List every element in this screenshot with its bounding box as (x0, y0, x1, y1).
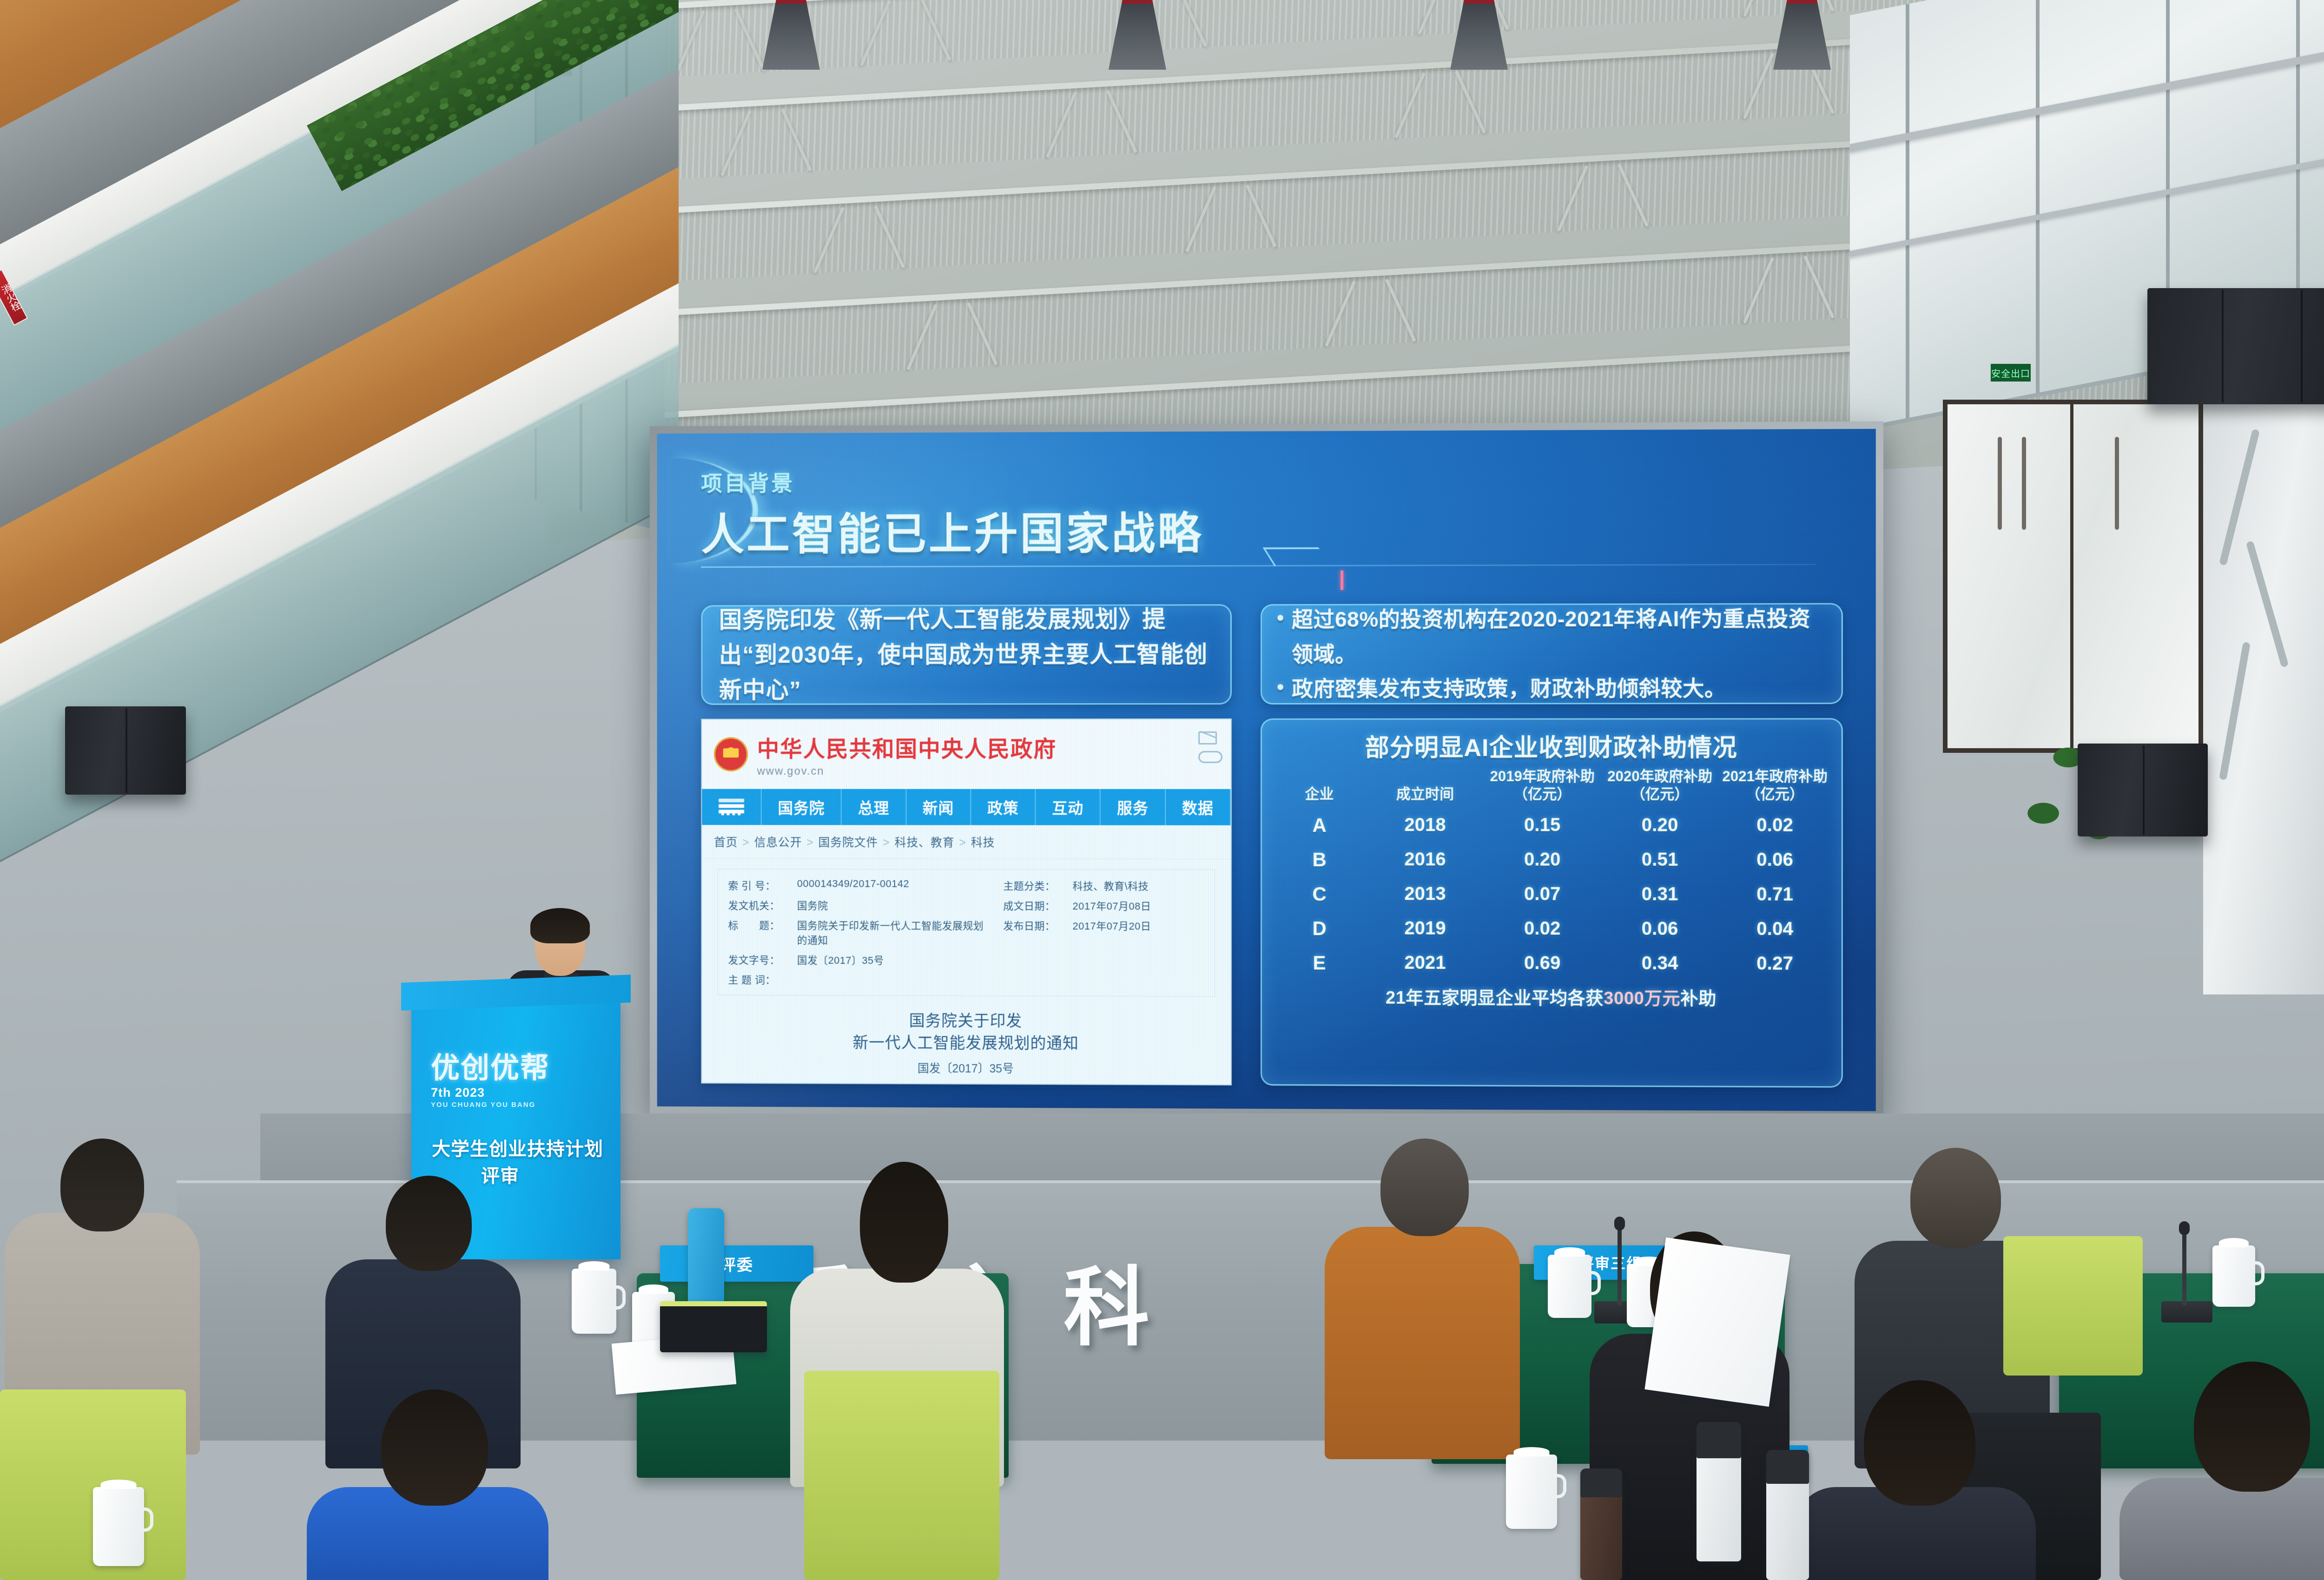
cell-firm: D (1272, 911, 1367, 946)
policy-quote-text: 国务院印发《新一代人工智能发展规划》提出“到2030年，使中国成为世界主要人工智… (702, 601, 1230, 708)
event-logo-year: 7th 2023 (431, 1086, 584, 1100)
cell-founded: 2019 (1367, 911, 1484, 946)
lidded-mug (572, 1269, 616, 1334)
audience-head (860, 1162, 948, 1283)
cell-2020: 0.51 (1601, 843, 1719, 877)
gov-header-icons (1198, 731, 1222, 763)
meta-value: 2017年07月20日 (1073, 918, 1151, 948)
meta-key: 成文日期： (1003, 898, 1072, 913)
cell-founded: 2016 (1367, 843, 1484, 877)
audience-body (2119, 1478, 2324, 1580)
screenshot-root: 消火栓 安全出口 (0, 0, 2324, 1580)
footnote-prefix: 21年五家明显企业平均各获 (1386, 988, 1604, 1008)
meta-row: 标 题：国务院关于印发新一代人工智能发展规划的通知 (728, 917, 991, 948)
right-curtain-wall: 安全出口 (1850, 0, 2324, 1162)
meta-value: 科技、教育\科技 (1073, 878, 1149, 893)
footnote-highlight: 3000万元 (1604, 989, 1680, 1009)
lidded-mug (1548, 1255, 1591, 1318)
gov-header: 中华人民共和国中央人民政府 www.gov.cn (702, 719, 1231, 789)
presenter-hair (530, 908, 590, 943)
thermos-flask (1580, 1468, 1622, 1580)
audience-body (1325, 1227, 1520, 1459)
table-row: C 2013 0.07 0.31 0.71 (1272, 877, 1831, 912)
meta-value: 000014349/2017-00142 (797, 878, 909, 893)
cell-founded: 2021 (1367, 946, 1484, 981)
subsidy-table-card: 部分明显AI企业收到财政补助情况 企业 成立时间 2019年政府补助（亿元） 2… (1261, 718, 1843, 1087)
table-title: 部分明显AI企业收到财政补助情况 (1272, 728, 1831, 763)
market-bullets-card: 超过68%的投资机构在2020-2021年将AI作为重点投资领域。 政府密集发布… (1261, 603, 1843, 704)
meta-key: 主 题 词： (728, 972, 797, 987)
slide-kicker: 项目背景 (701, 465, 1203, 497)
event-logo: 优创优帮 7th 2023 YOU CHUANG YOU BANG (431, 1054, 584, 1109)
meta-key: 发文机关： (728, 897, 797, 912)
cell-2021: 0.71 (1719, 877, 1831, 912)
audience-head (1864, 1380, 1975, 1506)
lidded-mug (1506, 1455, 1557, 1529)
doc-title-line2: 新一代人工智能发展规划的通知 (702, 1032, 1231, 1056)
cell-firm: A (1272, 808, 1367, 843)
cell-firm: B (1272, 843, 1367, 877)
structural-column (2203, 344, 2324, 994)
table-row: D 2019 0.02 0.06 0.04 (1272, 911, 1831, 947)
audience-head (1380, 1139, 1469, 1236)
meta-row: 主题分类：科技、教育\科技 (1003, 878, 1204, 893)
col-header-2019: 2019年政府补助（亿元） (1484, 768, 1601, 808)
nav-item-hudong[interactable]: 互动 (1036, 789, 1101, 825)
meta-row: 成文日期：2017年07月08日 (1003, 898, 1204, 913)
policy-quote-card: 国务院印发《新一代人工智能发展规划》提出“到2030年，使中国成为世界主要人工智… (701, 604, 1232, 705)
nav-item-fuwu[interactable]: 服务 (1101, 789, 1166, 825)
audience-head (381, 1389, 488, 1506)
thermos-flask (1766, 1450, 1809, 1580)
footnote-suffix: 补助 (1680, 989, 1717, 1008)
thermos-flask (1697, 1422, 1741, 1561)
meta-row-empty (1003, 973, 1204, 988)
reading-papers (1644, 1238, 1790, 1407)
gov-site-title: 中华人民共和国中央人民政府 (757, 731, 1056, 763)
name-card-label: 评委 (720, 1252, 753, 1275)
breadcrumb-item[interactable]: 信息公开 (754, 836, 802, 849)
nav-home-icon[interactable] (702, 789, 761, 825)
header-tick-accent (1263, 547, 1330, 566)
cell-firm: E (1272, 946, 1367, 981)
cell-firm: C (1272, 877, 1367, 911)
document-title-block: 国务院关于印发 新一代人工智能发展规划的通知 国发〔2017〕35号 (702, 1009, 1231, 1077)
nav-item-zhengce[interactable]: 政策 (971, 789, 1036, 825)
subsidy-table: 企业 成立时间 2019年政府补助（亿元） 2020年政府补助（亿元） 2021… (1272, 768, 1831, 981)
document-metadata-table: 索 引 号：000014349/2017-00142 主题分类：科技、教育\科技… (718, 869, 1215, 997)
gate-icon (717, 798, 746, 816)
cell-2020: 0.34 (1601, 946, 1719, 981)
table-row: A 2018 0.15 0.20 0.02 (1272, 808, 1831, 843)
meta-value: 国发〔2017〕35号 (797, 952, 884, 967)
meta-row: 索 引 号：000014349/2017-00142 (728, 878, 991, 893)
cell-2019: 0.69 (1484, 946, 1601, 981)
search-icon[interactable] (1198, 751, 1222, 763)
event-logo-mark: 优创优帮 (431, 1054, 584, 1083)
audience-head (1910, 1148, 2001, 1248)
col-header-2020: 2020年政府补助（亿元） (1601, 768, 1719, 808)
nav-item-xinwen[interactable]: 新闻 (906, 789, 971, 825)
audience-member (307, 1389, 548, 1580)
cell-2021: 0.04 (1719, 912, 1831, 947)
cell-2019: 0.02 (1484, 912, 1601, 947)
doc-number: 国发〔2017〕35号 (702, 1058, 1231, 1077)
breadcrumb: 首页>信息公开>国务院文件>科技、教育>科技 (702, 825, 1231, 859)
col-header-firm: 企业 (1272, 768, 1367, 808)
gov-site-url: www.gov.cn (757, 765, 1056, 778)
meta-key: 发布日期： (1003, 918, 1072, 948)
meta-row: 发布日期：2017年07月20日 (1003, 918, 1204, 948)
cell-2019: 0.07 (1484, 877, 1601, 912)
cell-2020: 0.06 (1601, 912, 1719, 947)
lectern-subtitle-line1: 大学生创业扶持计划 (432, 1134, 604, 1161)
laser-pointer-mark (1340, 571, 1343, 590)
slide-headline: 人工智能已上升国家战略 (701, 498, 1203, 563)
cell-2019: 0.15 (1484, 808, 1601, 843)
gov-website-screenshot: 中华人民共和国中央人民政府 www.gov.cn 国务院 总理 新闻 政策 互动 (701, 718, 1232, 1086)
lidded-mug (93, 1487, 144, 1566)
line-array-speaker (2147, 288, 2324, 404)
wall-speaker (65, 706, 186, 795)
meta-value: 2017年07月08日 (1073, 898, 1151, 913)
laptop (660, 1301, 767, 1352)
audience-head (2194, 1362, 2310, 1492)
cell-founded: 2018 (1367, 808, 1484, 843)
bullet-item: 政府密集发布支持政策，财政补助倾斜较大。 (1276, 671, 1827, 706)
exit-sign: 安全出口 (1989, 362, 2032, 383)
cell-2021: 0.27 (1719, 947, 1831, 981)
table-footnote: 21年五家明显企业平均各获3000万元补助 (1272, 983, 1831, 1010)
market-bullets-list: 超过68%的投资机构在2020-2021年将AI作为重点投资领域。 政府密集发布… (1262, 601, 1842, 706)
table-row: B 2016 0.20 0.51 0.06 (1272, 843, 1831, 877)
meta-row: 发文机关：国务院 (728, 897, 991, 913)
meta-key: 主题分类： (1003, 878, 1072, 893)
table-header-row: 企业 成立时间 2019年政府补助（亿元） 2020年政府补助（亿元） 2021… (1272, 768, 1831, 808)
bullet-item: 超过68%的投资机构在2020-2021年将AI作为重点投资领域。 (1276, 601, 1827, 671)
cell-2020: 0.20 (1601, 808, 1719, 843)
audience-head (60, 1139, 144, 1231)
national-emblem-icon (714, 737, 748, 771)
cell-2019: 0.20 (1484, 843, 1601, 877)
cell-2021: 0.02 (1719, 808, 1831, 843)
chair (804, 1371, 999, 1580)
table-row: E 2021 0.69 0.34 0.27 (1272, 946, 1831, 981)
nav-item-zongli[interactable]: 总理 (842, 789, 906, 825)
meta-value: 国务院关于印发新一代人工智能发展规划的通知 (797, 917, 991, 948)
microphone-base (2161, 1301, 2212, 1323)
cell-2020: 0.31 (1601, 877, 1719, 912)
lidded-mug (2212, 1245, 2255, 1307)
col-header-2021: 2021年政府补助（亿元） (1719, 768, 1831, 808)
header-divider (701, 564, 1816, 568)
cell-founded: 2013 (1367, 877, 1484, 912)
breadcrumb-item[interactable]: 科技 (971, 836, 995, 849)
led-display-frame: 项目背景 人工智能已上升国家战略 国务院印发《新一代人工智能发展规划》提出“到2… (650, 421, 1883, 1119)
meta-key: 索 引 号： (728, 878, 797, 893)
gov-nav-bar[interactable]: 国务院 总理 新闻 政策 互动 服务 数据 (702, 789, 1231, 825)
chair (2003, 1236, 2143, 1376)
slide-header: 项目背景 人工智能已上升国家战略 (701, 465, 1203, 562)
breadcrumb-item[interactable]: 国务院文件 (819, 836, 878, 849)
nav-item-guowuyuan[interactable]: 国务院 (762, 789, 842, 825)
left-atrium: 消火栓 (0, 0, 679, 948)
wall-speaker (2078, 744, 2208, 836)
audience-member (1794, 1380, 2036, 1580)
meta-row: 主 题 词： (728, 972, 991, 987)
audience-head (386, 1176, 472, 1271)
nav-item-shuju[interactable]: 数据 (1166, 789, 1231, 825)
audience-member (1325, 1134, 1520, 1459)
glass-entry-doors[interactable] (1943, 400, 2203, 753)
audience-member (2119, 1362, 2324, 1580)
col-header-founded: 成立时间 (1367, 768, 1484, 808)
event-logo-pinyin: YOU CHUANG YOU BANG (431, 1101, 584, 1109)
cell-2021: 0.06 (1719, 843, 1831, 878)
meta-key: 标 题： (728, 917, 797, 947)
breadcrumb-item[interactable]: 首页 (714, 836, 738, 849)
meta-row: 发文字号：国发〔2017〕35号 (728, 952, 991, 968)
meta-key: 发文字号： (728, 952, 797, 967)
breadcrumb-item[interactable]: 科技、教育 (895, 836, 955, 849)
doc-title-line1: 国务院关于印发 (702, 1009, 1231, 1033)
gooseneck-microphone (2182, 1231, 2186, 1306)
meta-value: 国务院 (797, 898, 828, 913)
meta-row-empty (1003, 953, 1204, 968)
presentation-slide: 项目背景 人工智能已上升国家战略 国务院印发《新一代人工智能发展规划》提出“到2… (657, 429, 1876, 1111)
mail-icon[interactable] (1198, 731, 1217, 744)
